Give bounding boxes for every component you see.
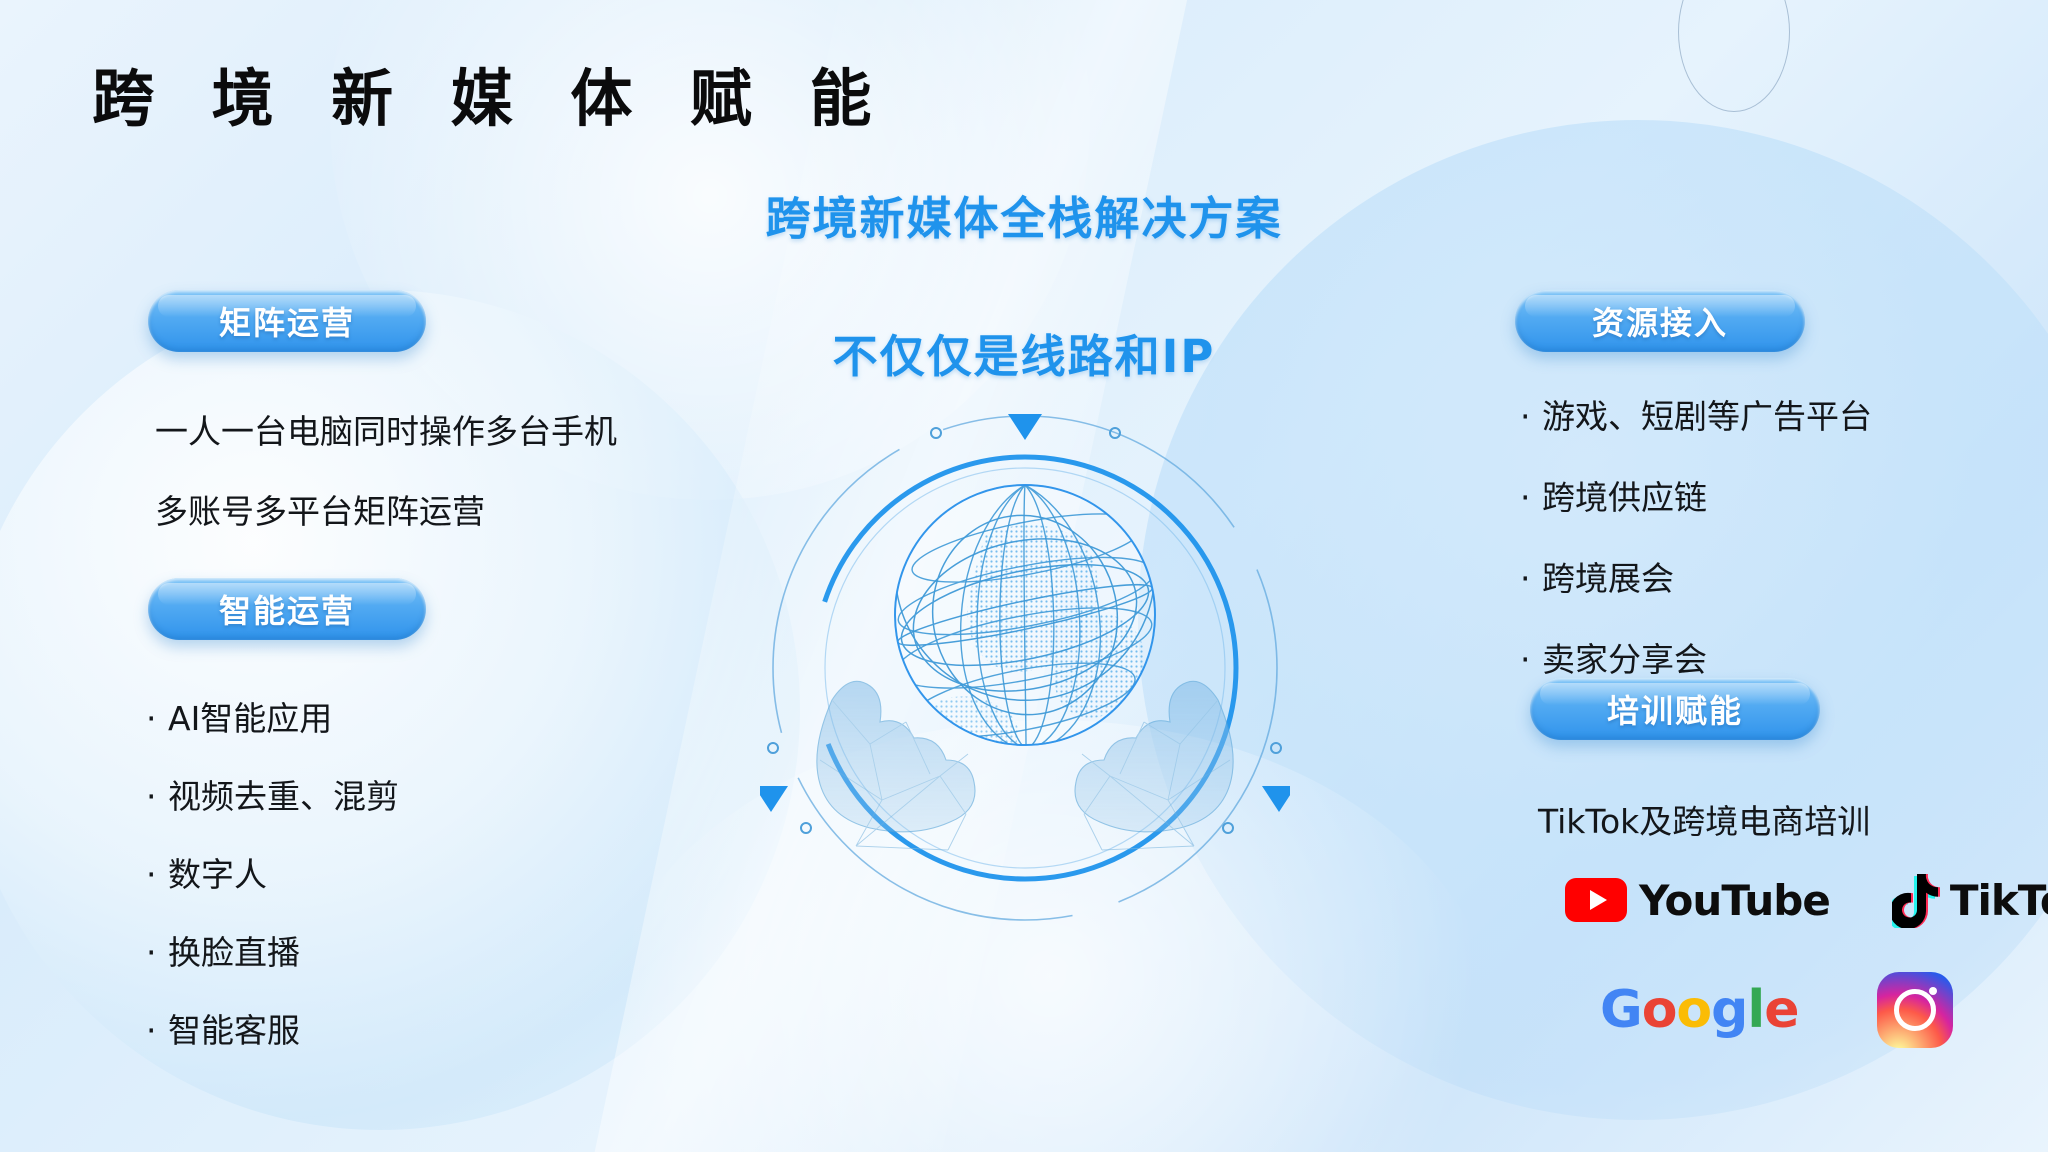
google-letter: e (1764, 980, 1798, 1040)
list-item-label: 跨境展会 (1542, 552, 1674, 600)
google-letter: o (1676, 980, 1711, 1040)
bullet-dot: · (1520, 478, 1542, 517)
bullet-dot: · (146, 777, 168, 816)
bullet-dot: · (146, 855, 168, 894)
platform-logo-row-2: G o o g l e (1600, 972, 1953, 1048)
tiktok-note-icon (1892, 872, 1942, 928)
list-item: · 智能客服 (146, 1004, 399, 1052)
list-item: · 跨境供应链 (1520, 471, 1872, 519)
bullet-dot: · (146, 1011, 168, 1050)
list-item-label: 数字人 (168, 848, 267, 896)
youtube-play-icon (1565, 878, 1627, 922)
list-item: · 跨境展会 (1520, 552, 1872, 600)
pill-smart-operation[interactable]: 智能运营 (148, 578, 426, 640)
resource-access-list: · 游戏、短剧等广告平台 · 跨境供应链 · 跨境展会 · 卖家分享会 (1520, 390, 1872, 714)
google-logo[interactable]: G o o g l e (1600, 980, 1799, 1040)
pill-resource-access-label: 资源接入 (1592, 298, 1728, 344)
list-item: · AI智能应用 (146, 692, 399, 740)
youtube-logo[interactable]: YouTube (1565, 876, 1830, 925)
platform-logo-row-1: YouTube TikTok (1565, 872, 2048, 928)
bullet-dot: · (1520, 397, 1542, 436)
list-item: · 数字人 (146, 848, 399, 896)
tiktok-logo[interactable]: TikTok (1892, 872, 2048, 928)
smart-operation-list: · AI智能应用 · 视频去重、混剪 · 数字人 · 换脸直播 · 智能客服 (146, 692, 399, 1082)
instagram-flash-dot-icon (1929, 987, 1937, 995)
google-letter: l (1747, 980, 1764, 1040)
list-item-label: 换脸直播 (168, 926, 300, 974)
training-description: TikTok及跨境电商培训 (1538, 795, 1870, 843)
matrix-line-1: 一人一台电脑同时操作多台手机 (155, 405, 617, 453)
bullet-dot: · (1520, 640, 1542, 679)
google-letter: o (1642, 980, 1677, 1040)
pill-smart-operation-label: 智能运营 (219, 586, 355, 632)
bullet-dot: · (146, 933, 168, 972)
decorative-circle-outline (1678, 0, 1790, 112)
globe-icon (760, 400, 1290, 930)
google-letter: g (1711, 980, 1747, 1040)
youtube-logo-label: YouTube (1639, 876, 1830, 925)
bullet-dot: · (146, 699, 168, 738)
google-letter: G (1600, 980, 1642, 1040)
list-item: · 换脸直播 (146, 926, 399, 974)
instagram-camera-icon (1894, 989, 1936, 1031)
list-item-label: AI智能应用 (168, 692, 332, 740)
globe-in-hands-illustration (760, 400, 1290, 930)
page-title: 跨 境 新 媒 体 赋 能 (92, 48, 890, 138)
list-item: · 卖家分享会 (1520, 633, 1872, 681)
pill-resource-access[interactable]: 资源接入 (1515, 290, 1805, 352)
tiktok-logo-label: TikTok (1950, 876, 2048, 925)
list-item: · 视频去重、混剪 (146, 770, 399, 818)
list-item-label: 卖家分享会 (1542, 633, 1707, 681)
pill-training-empowerment-label: 培训赋能 (1607, 686, 1743, 732)
headline-secondary: 不仅仅是线路和IP (833, 320, 1216, 385)
bullet-dot: · (1520, 559, 1542, 598)
pill-matrix-operation[interactable]: 矩阵运营 (148, 290, 426, 352)
pill-matrix-operation-label: 矩阵运营 (219, 298, 355, 344)
matrix-line-2: 多账号多平台矩阵运营 (155, 485, 485, 533)
list-item: · 游戏、短剧等广告平台 (1520, 390, 1872, 438)
headline-primary: 跨境新媒体全栈解决方案 (765, 182, 1282, 247)
presentation-slide: 跨 境 新 媒 体 赋 能 跨境新媒体全栈解决方案 不仅仅是线路和IP (0, 0, 2048, 1152)
list-item-label: 智能客服 (168, 1004, 300, 1052)
list-item-label: 跨境供应链 (1542, 471, 1707, 519)
list-item-label: 视频去重、混剪 (168, 770, 399, 818)
instagram-logo[interactable] (1877, 972, 1953, 1048)
pill-training-empowerment[interactable]: 培训赋能 (1530, 678, 1820, 740)
list-item-label: 游戏、短剧等广告平台 (1542, 390, 1872, 438)
